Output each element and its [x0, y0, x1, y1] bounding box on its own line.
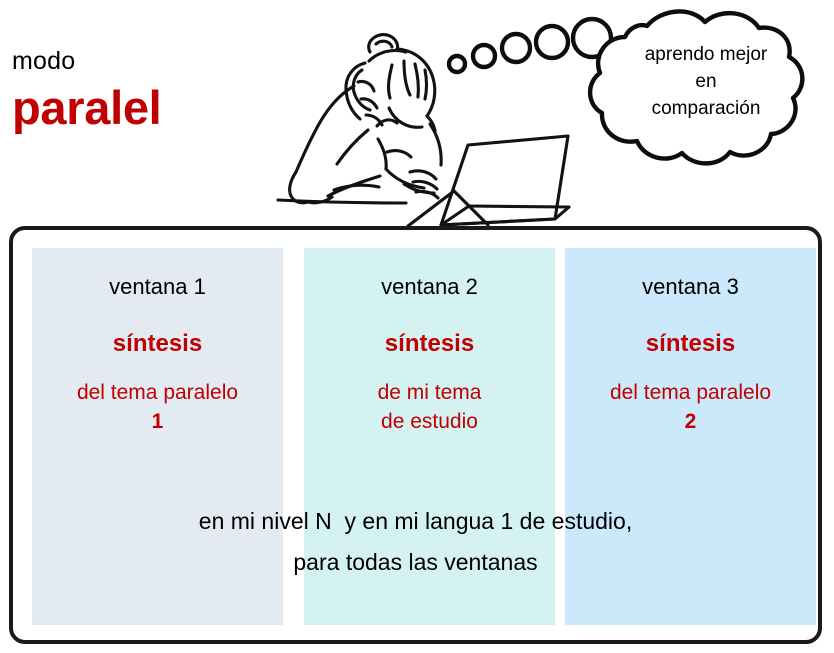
window-subtitle-3: del tema paralelo 2	[565, 379, 816, 437]
window-subtitle-1-line-1: del tema paralelo	[32, 379, 283, 408]
window-subtitle-1-emphasis: 1	[32, 408, 283, 437]
thought-bubble-3	[502, 34, 530, 62]
window-synthesis-3: síntesis	[565, 330, 816, 359]
thought-cloud-text: aprendo mejor en comparación	[596, 42, 816, 123]
page-title-small: modo	[12, 48, 262, 74]
thought-bubble-1	[449, 56, 465, 72]
title-block: modo paralel	[12, 48, 262, 136]
page-title-large: paralel	[12, 80, 262, 135]
window-title-1: ventana 1	[32, 274, 283, 300]
cloud-line-2: en	[596, 69, 816, 96]
thought-bubble-2	[473, 45, 495, 67]
window-subtitle-2-line-1: de mi tema	[304, 379, 555, 408]
cloud-line-3: comparación	[596, 96, 816, 123]
windows-columns: ventana 1 síntesis del tema paralelo 1 v…	[13, 230, 818, 640]
header-area: modo paralel	[0, 0, 834, 225]
window-subtitle-1: del tema paralelo 1	[32, 379, 283, 437]
window-title-2: ventana 2	[304, 274, 555, 300]
cloud-line-1: aprendo mejor	[596, 42, 816, 69]
window-subtitle-2: de mi tema de estudio	[304, 379, 555, 437]
window-subtitle-3-emphasis: 2	[565, 408, 816, 437]
window-synthesis-2: síntesis	[304, 330, 555, 359]
window-column-1[interactable]: ventana 1 síntesis del tema paralelo 1	[32, 248, 283, 625]
thought-cloud: aprendo mejor en comparación	[438, 4, 834, 194]
window-subtitle-3-line-1: del tema paralelo	[565, 379, 816, 408]
thought-bubble-4	[536, 26, 568, 58]
window-subtitle-2-line-2: de estudio	[304, 408, 555, 437]
window-column-3[interactable]: ventana 3 síntesis del tema paralelo 2	[565, 248, 816, 625]
window-title-3: ventana 3	[565, 274, 816, 300]
window-synthesis-1: síntesis	[32, 330, 283, 359]
windows-panel: ventana 1 síntesis del tema paralelo 1 v…	[9, 226, 822, 644]
window-column-2[interactable]: ventana 2 síntesis de mi tema de estudio	[304, 248, 555, 625]
